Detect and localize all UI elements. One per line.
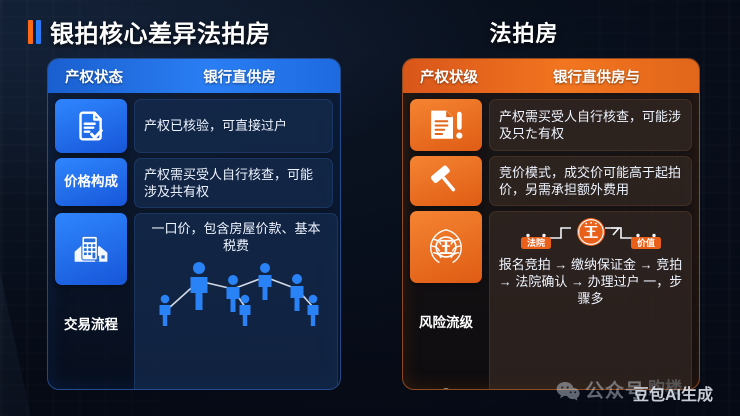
left-header-col1: 产权状态 (65, 66, 151, 87)
seal-tag-right: 价值 (636, 237, 654, 248)
row-text: 竞价模式，成交价可能高于起拍价，另需承担额外费用 (489, 156, 692, 206)
row-text: 产权需买受人自行核查，可能涉及只た有权 (489, 99, 692, 151)
right-comparison-panel: 产权状级 银行直供房与 (402, 58, 700, 390)
accent-bar-icon (28, 19, 41, 45)
calculator-house-icon (55, 213, 127, 285)
left-header-col2: 银行直供房 (151, 66, 340, 87)
gavel-icon (410, 156, 482, 206)
row-text: 一口价，包含房屋价款、基本税费 (141, 219, 331, 255)
court-emblem-icon (410, 211, 482, 283)
document-alert-icon (410, 99, 482, 151)
watermark-overlay: 豆包AI生成 (633, 381, 713, 405)
right-header-col1: 产权状级 (420, 66, 506, 87)
table-row[interactable]: 产权已核验，可直接过户 (55, 99, 333, 153)
right-panel-header: 产权状级 银行直供房与 (403, 59, 699, 93)
row-text: 产权需买受人自行核查，可能涉及共有权 (134, 158, 333, 208)
right-header-col2: 银行直供房与 (506, 66, 699, 87)
table-row[interactable]: 竞价模式，成交价可能高于起拍价，另需承担额外费用 (410, 156, 692, 206)
tile-label-process: 交易流程 (55, 288, 127, 360)
watermark-group: 公众号 (556, 376, 645, 403)
slide-canvas: 银拍核心差异法拍房 法拍房 产权状态 银行直供房 产权已核验，可直接过户 (0, 0, 740, 416)
people-network-icon (141, 255, 331, 327)
table-row[interactable]: 交易流程 一口价，包含房屋价款、基本税费 (55, 213, 333, 390)
table-row[interactable]: 风险流级 (410, 211, 692, 390)
row-text: 报名竞拍 → 缴纳保证金 → 竞拍 → 法院确认 → 办理过户 一，步骤多 (496, 257, 685, 308)
court-seal-banner-icon: 法院 价值 (497, 216, 685, 256)
right-title: 法拍房 (154, 16, 740, 48)
wechat-icon (556, 381, 578, 399)
seal-tag-left: 法院 (526, 237, 544, 248)
row-text: 产权已核验，可直接过户 (134, 99, 333, 153)
left-panel-rows: 产权已核验，可直接过户 价格构成 产权需买受人自行核查，可能涉及共有权 (48, 93, 340, 390)
document-check-icon (55, 99, 127, 153)
tile-label-price: 价格构成 (55, 158, 127, 206)
table-row[interactable]: 价格构成 产权需买受人自行核查，可能涉及共有权 (55, 158, 333, 208)
arrow-down-icon (410, 361, 482, 390)
arrow-down-icon (55, 363, 127, 390)
left-panel-header: 产权状态 银行直供房 (48, 59, 340, 93)
tile-label-risk: 风险流级 (410, 286, 482, 358)
right-panel-rows: 产权需买受人自行核查，可能涉及只た有权 竞价模式，成交价可能高于起拍价，另需承担… (403, 93, 699, 390)
table-row[interactable]: 产权需买受人自行核查，可能涉及只た有权 (410, 99, 692, 151)
left-comparison-panel: 产权状态 银行直供房 产权已核验，可直接过户 价格构成 产权 (47, 58, 341, 390)
